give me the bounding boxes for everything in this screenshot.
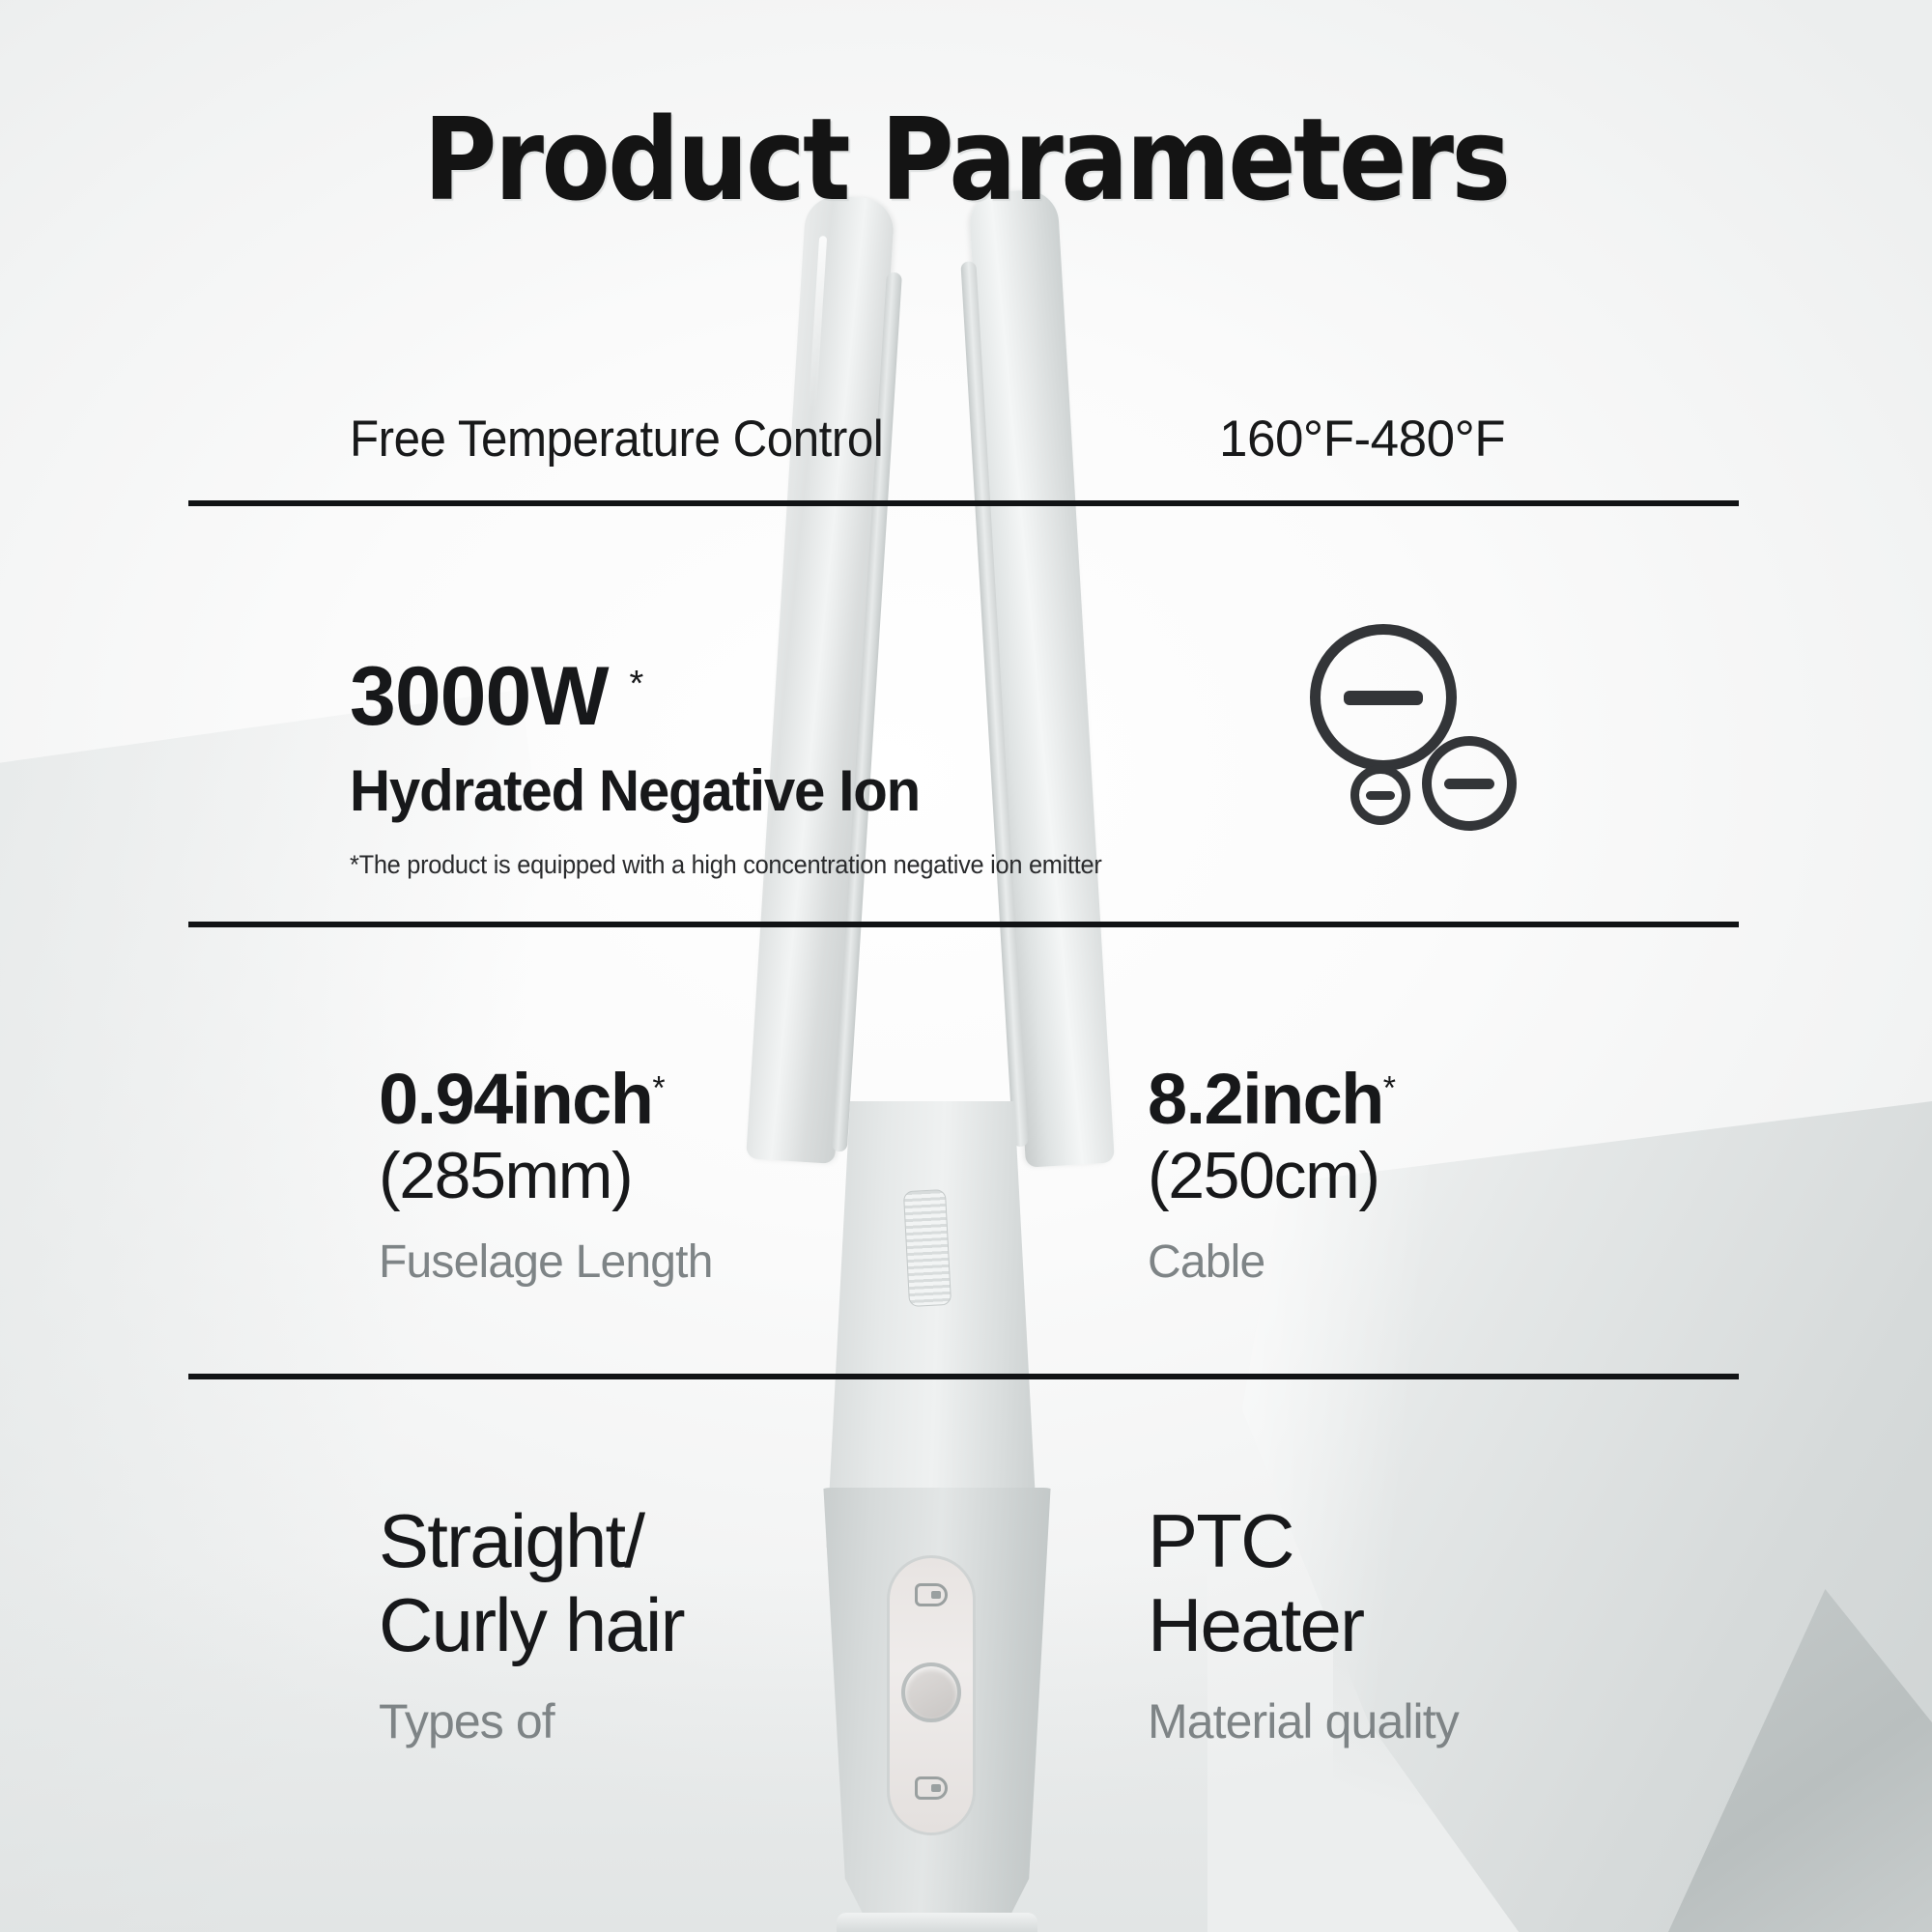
feature-line-2: Heater [1148, 1583, 1459, 1667]
feature-line-1: PTC [1148, 1499, 1459, 1583]
spec-metric: (285mm) [379, 1137, 713, 1214]
spec-value-row: 0.94inch* [379, 1063, 713, 1137]
spec-value: 0.94inch [379, 1059, 652, 1139]
spec-fuselage-length: 0.94inch* (285mm) Fuselage Length [379, 1063, 713, 1289]
feature-line-2: Curly hair [379, 1583, 684, 1667]
negative-ion-footnote: *The product is equipped with a high con… [350, 850, 1102, 880]
negative-ion-heading: Hydrated Negative Ion [350, 757, 920, 824]
ion-circle-large [1310, 624, 1457, 771]
ion-circle-small [1350, 765, 1410, 825]
spec-caption: Cable [1148, 1236, 1394, 1289]
content-overlay: Product Parameters Free Temperature Cont… [0, 0, 1932, 1932]
feature-line-1: Straight/ [379, 1499, 684, 1583]
feature-heater-material: PTC Heater Material quality [1148, 1499, 1459, 1749]
spec-metric: (250cm) [1148, 1137, 1394, 1214]
spec-caption: Fuselage Length [379, 1236, 713, 1289]
divider-1 [188, 500, 1739, 506]
feature-hair-types: Straight/ Curly hair Types of [379, 1499, 684, 1749]
negative-ion-icon [1302, 618, 1553, 840]
wattage-asterisk: * [630, 664, 643, 704]
divider-2 [188, 922, 1739, 927]
infographic-canvas: Product Parameters Free Temperature Cont… [0, 0, 1932, 1932]
spec-value-row: 8.2inch* [1148, 1063, 1394, 1137]
spec-asterisk: * [1383, 1069, 1395, 1106]
feature-caption: Material quality [1148, 1693, 1459, 1749]
page-title: Product Parameters [116, 93, 1816, 226]
feature-caption: Types of [379, 1693, 684, 1749]
wattage-heading: 3000W* [350, 649, 642, 745]
temperature-range-value: 160°F-480°F [1219, 410, 1505, 469]
ion-circle-medium [1422, 736, 1517, 831]
divider-3 [188, 1374, 1739, 1379]
spec-asterisk: * [652, 1069, 664, 1106]
spec-cable-length: 8.2inch* (250cm) Cable [1148, 1063, 1394, 1289]
spec-value: 8.2inch [1148, 1059, 1383, 1139]
temperature-control-label: Free Temperature Control [350, 410, 883, 469]
wattage-value: 3000W [350, 650, 609, 743]
